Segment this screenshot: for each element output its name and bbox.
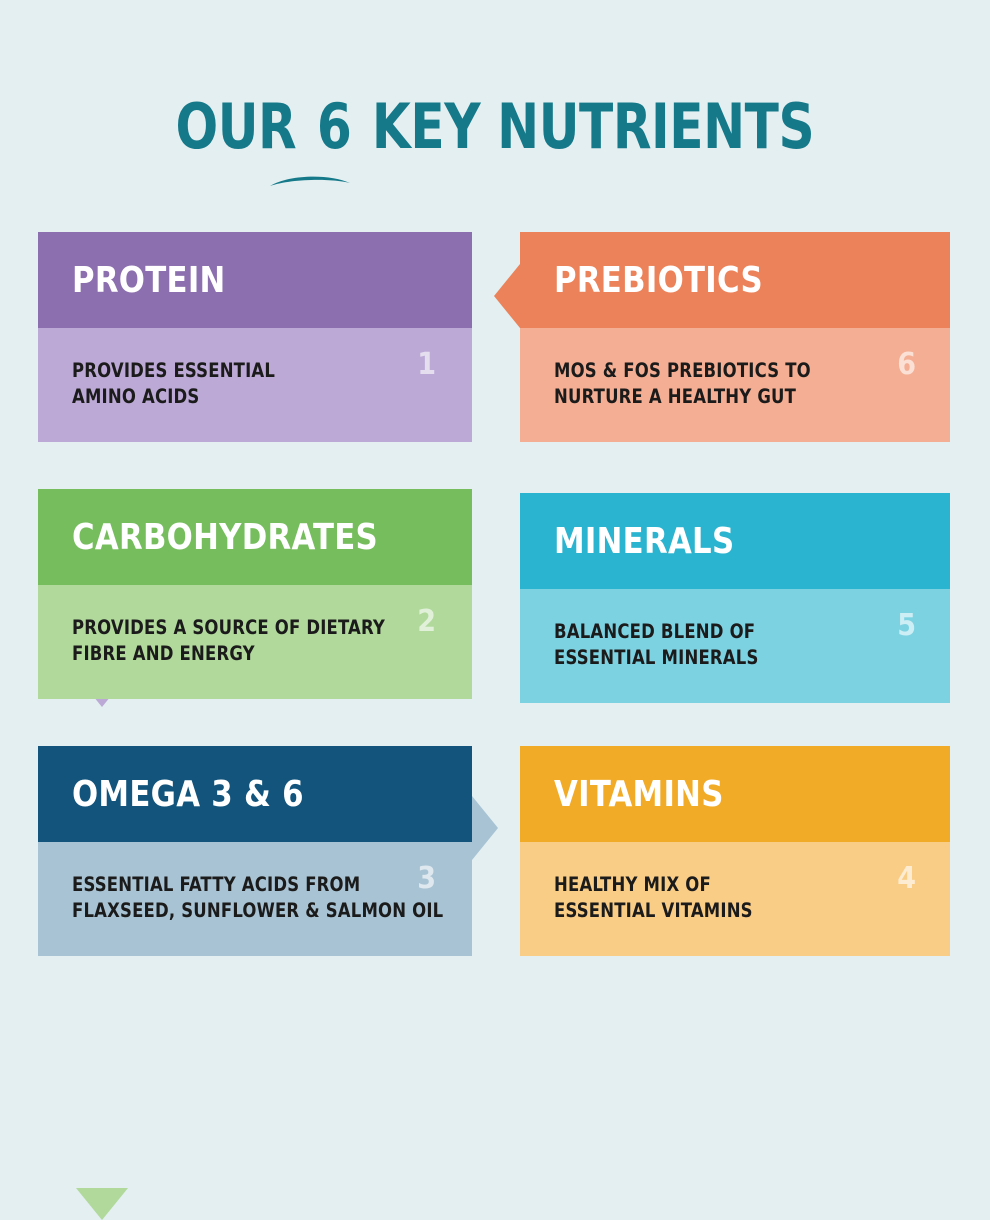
card-body-carbohydrates: PROVIDES A SOURCE OF DIETARY FIBRE AND E…: [38, 585, 472, 699]
card-body-minerals: BALANCED BLEND OF ESSENTIAL MINERALS 5: [520, 589, 950, 703]
card-body-prebiotics: MOS & FOS PREBIOTICS TO NURTURE A HEALTH…: [520, 328, 950, 442]
card-header-omega: OMEGA 3 & 6: [38, 746, 472, 842]
card-number-protein: 1: [417, 350, 436, 380]
card-number-prebiotics: 6: [897, 350, 916, 380]
card-title-minerals: MINERALS: [554, 521, 734, 562]
infographic-page: OUR 6 KEY NUTRIENTS PROTEIN PROVIDES ESS…: [0, 0, 990, 1073]
arrow-right-icon: [472, 796, 498, 860]
card-header-protein: PROTEIN: [38, 232, 472, 328]
card-header-prebiotics: PREBIOTICS: [520, 232, 950, 328]
nutrient-card-omega[interactable]: OMEGA 3 & 6 ESSENTIAL FATTY ACIDS FROM F…: [38, 746, 472, 956]
card-number-vitamins: 4: [897, 864, 916, 894]
card-title-protein: PROTEIN: [72, 260, 226, 301]
card-body-omega: ESSENTIAL FATTY ACIDS FROM FLAXSEED, SUN…: [38, 842, 472, 956]
card-body-vitamins: HEALTHY MIX OF ESSENTIAL VITAMINS 4: [520, 842, 950, 956]
card-description-protein: PROVIDES ESSENTIAL AMINO ACIDS: [72, 358, 448, 411]
card-description-vitamins: HEALTHY MIX OF ESSENTIAL VITAMINS: [554, 872, 926, 925]
card-title-vitamins: VITAMINS: [554, 774, 724, 815]
card-header-minerals: MINERALS: [520, 493, 950, 589]
card-description-carbohydrates: PROVIDES A SOURCE OF DIETARY FIBRE AND E…: [72, 615, 448, 668]
nutrient-card-protein[interactable]: PROTEIN PROVIDES ESSENTIAL AMINO ACIDS 1: [38, 232, 472, 442]
nutrient-card-minerals[interactable]: MINERALS BALANCED BLEND OF ESSENTIAL MIN…: [520, 493, 950, 703]
card-number-minerals: 5: [897, 611, 916, 641]
card-title-prebiotics: PREBIOTICS: [554, 260, 763, 301]
triangle-down-icon: [76, 1188, 128, 1220]
card-header-carbohydrates: CARBOHYDRATES: [38, 489, 472, 585]
arrow-left-icon: [494, 264, 520, 328]
card-description-minerals: BALANCED BLEND OF ESSENTIAL MINERALS: [554, 619, 926, 672]
card-title-omega: OMEGA 3 & 6: [72, 774, 304, 815]
nutrient-card-grid: PROTEIN PROVIDES ESSENTIAL AMINO ACIDS 1…: [0, 0, 990, 1073]
card-title-carbohydrates: CARBOHYDRATES: [72, 517, 378, 558]
card-number-carbohydrates: 2: [417, 607, 436, 637]
nutrient-card-carbohydrates[interactable]: CARBOHYDRATES PROVIDES A SOURCE OF DIETA…: [38, 489, 472, 699]
card-description-omega: ESSENTIAL FATTY ACIDS FROM FLAXSEED, SUN…: [72, 872, 448, 925]
card-header-vitamins: VITAMINS: [520, 746, 950, 842]
nutrient-card-vitamins[interactable]: VITAMINS HEALTHY MIX OF ESSENTIAL VITAMI…: [520, 746, 950, 956]
card-number-omega: 3: [417, 864, 436, 894]
card-description-prebiotics: MOS & FOS PREBIOTICS TO NURTURE A HEALTH…: [554, 358, 926, 411]
card-body-protein: PROVIDES ESSENTIAL AMINO ACIDS 1: [38, 328, 472, 442]
nutrient-card-prebiotics[interactable]: PREBIOTICS MOS & FOS PREBIOTICS TO NURTU…: [520, 232, 950, 442]
